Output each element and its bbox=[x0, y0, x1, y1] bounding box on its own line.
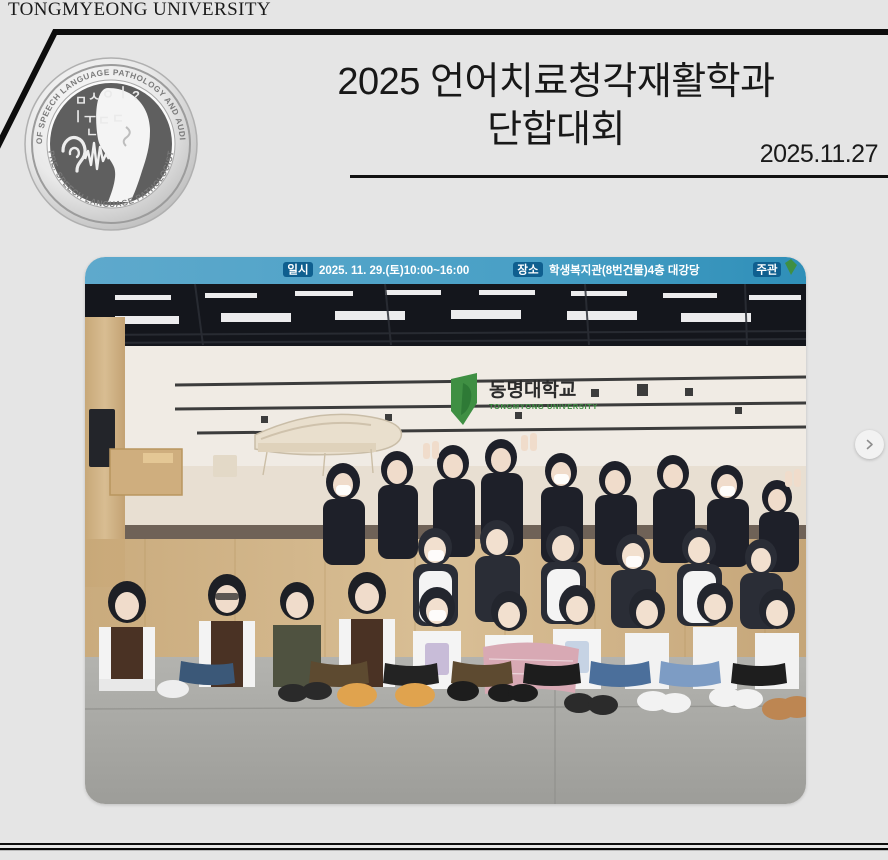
group-photo-image: 일시 2025. 11. 29.(토)10:00~16:00 장소 학생복지관(… bbox=[85, 257, 806, 804]
svg-text:ㄷ: ㄷ bbox=[112, 111, 124, 126]
svg-text:ㄷ: ㄷ bbox=[98, 113, 110, 128]
banner-host-label: 주관 bbox=[756, 263, 778, 277]
carousel-next-button[interactable] bbox=[855, 430, 884, 459]
stage-logo-korean: 동명대학교 bbox=[489, 379, 576, 401]
banner-when-value: 2025. 11. 29.(토)10:00~16:00 bbox=[319, 264, 469, 277]
chevron-right-icon bbox=[863, 438, 876, 451]
event-title-line-1: 2025 언어치료청각재활학과 bbox=[230, 58, 882, 106]
svg-text:ㅁ: ㅁ bbox=[75, 93, 87, 108]
svg-text:ㅇ: ㅇ bbox=[102, 87, 114, 102]
university-name: TONGMYEONG UNIVERSITY bbox=[8, 0, 271, 20]
department-seal-icon: ㅁ ㅅ ㅇ ㅣ ? ㅣ ㅜ ㄷ ㄷ ㄴ DEPT. OF SPEECH LANG… bbox=[22, 55, 200, 233]
bottom-divider-secondary bbox=[0, 848, 888, 850]
banner-when-label: 일시 bbox=[287, 263, 308, 277]
banner-where-label: 장소 bbox=[517, 263, 539, 277]
svg-text:?: ? bbox=[132, 88, 140, 103]
banner-where-value: 학생복지관(8번건물)4층 대강당 bbox=[549, 263, 700, 277]
svg-text:ㄴ: ㄴ bbox=[86, 125, 98, 140]
svg-text:ㅅ: ㅅ bbox=[88, 89, 100, 104]
event-photo-card[interactable]: 일시 2025. 11. 29.(토)10:00~16:00 장소 학생복지관(… bbox=[85, 257, 806, 804]
svg-text:ㅣ: ㅣ bbox=[72, 109, 84, 124]
svg-text:ㅣ: ㅣ bbox=[117, 85, 129, 100]
title-underline bbox=[350, 175, 888, 178]
stage-logo-english: TONGMYONG UNIVERSITY bbox=[489, 402, 598, 411]
event-date: 2025.11.27 bbox=[760, 140, 878, 169]
svg-text:ㅜ: ㅜ bbox=[84, 111, 96, 126]
